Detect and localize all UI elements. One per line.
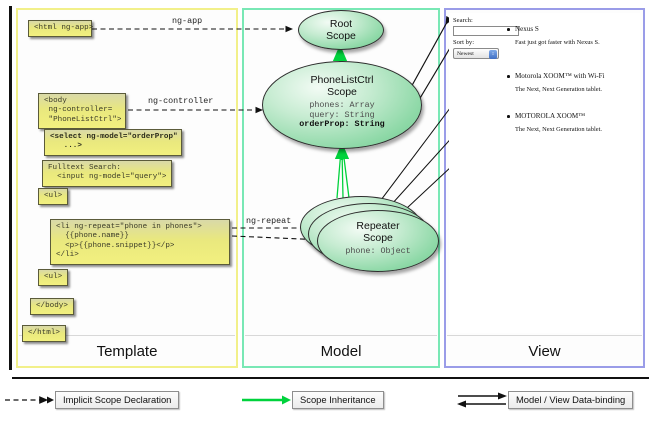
view-phone-snippet: The Next, Next Generation tablet. — [515, 86, 605, 93]
legend-data-binding-label: Model / View Data-binding — [508, 391, 633, 409]
view-phone-item[interactable]: Nexus S Fast just got faster with Nexus … — [515, 25, 600, 46]
scope-prop-orderprop: orderProp: String — [263, 120, 421, 130]
scope-repeater[interactable]: Repeater Scope phone: Object — [317, 210, 439, 272]
view-phone-name: MOTOROLA XOOM™ — [515, 112, 602, 120]
view-search-label: Search: — [453, 17, 473, 24]
dashed-arrow-icon — [3, 391, 55, 409]
template-box-body-close[interactable]: </body> — [30, 298, 74, 315]
scope-phonelistctrl-title-2: Scope — [263, 86, 421, 98]
edge-label-ng-repeat: ng-repeat — [246, 216, 291, 226]
bullet-icon — [507, 115, 510, 118]
legend-data-binding: Model / View Data-binding — [508, 390, 633, 409]
scope-prop-phone: phone: Object — [318, 247, 438, 257]
view-sort-label: Sort by: — [453, 39, 474, 46]
scope-phonelistctrl-title-1: PhoneListCtrl — [263, 74, 421, 86]
template-box-search-input[interactable]: Fulltext Search: <input ng-model="query"… — [42, 160, 172, 187]
edge-label-ng-controller: ng-controller — [148, 96, 213, 106]
diagram-canvas: Template Model View — [0, 0, 661, 425]
scope-root-title-2: Scope — [299, 30, 383, 42]
column-label-model: Model — [244, 343, 438, 360]
view-phone-snippet: Fast just got faster with Nexus S. — [515, 39, 600, 46]
scope-root-title-1: Root — [299, 18, 383, 30]
edge-label-ng-app: ng-app — [172, 16, 202, 26]
left-bracket — [9, 6, 12, 370]
view-phone-item[interactable]: Motorola XOOM™ with Wi-Fi The Next, Next… — [515, 72, 605, 93]
column-divider — [447, 335, 642, 336]
scope-phonelistctrl[interactable]: PhoneListCtrl Scope phones: Array query:… — [262, 61, 422, 149]
chevron-updown-icon[interactable]: ↕ — [489, 50, 497, 59]
legend-implicit-scope: Implicit Scope Declaration — [55, 390, 179, 409]
legend-scope-inheritance: Scope Inheritance — [292, 390, 384, 409]
template-box-body-tag[interactable]: <body ng-controller= "PhoneListCtrl"> — [38, 93, 126, 129]
view-sort-selected-value: Newest — [457, 51, 474, 57]
legend-scope-inheritance-label: Scope Inheritance — [292, 391, 384, 409]
green-arrow-icon — [240, 391, 292, 409]
bullet-icon — [507, 75, 510, 78]
view-app-preview: Search: Sort by: Newest ↕ Nexus S Fast j… — [449, 13, 640, 333]
template-box-html-close[interactable]: </html> — [22, 325, 66, 342]
column-label-template: Template — [18, 343, 236, 360]
template-box-html-tag[interactable]: <html ng-app> — [28, 20, 92, 37]
view-phone-snippet: The Next, Next Generation tablet. — [515, 126, 602, 133]
scope-repeater-title-1: Repeater — [318, 220, 438, 232]
view-phone-name: Motorola XOOM™ with Wi-Fi — [515, 72, 605, 80]
scope-root[interactable]: Root Scope — [298, 10, 384, 50]
view-sort-select[interactable]: Newest ↕ — [453, 48, 499, 59]
template-box-ul-open[interactable]: <ul> — [38, 188, 68, 205]
column-label-view: View — [446, 343, 643, 360]
bullet-icon — [507, 28, 510, 31]
template-box-li-repeat[interactable]: <li ng-repeat="phone in phones"> {{phone… — [50, 219, 230, 265]
double-head-arrow-icon — [456, 390, 508, 410]
view-phone-item[interactable]: MOTOROLA XOOM™ The Next, Next Generation… — [515, 112, 602, 133]
column-divider — [245, 335, 437, 336]
legend-separator — [12, 377, 649, 379]
view-phone-name: Nexus S — [515, 25, 600, 33]
scope-repeater-title-2: Scope — [318, 232, 438, 244]
template-box-select-tag[interactable]: <select ng-model="orderProp" ...> — [44, 129, 182, 156]
legend-implicit-scope-label: Implicit Scope Declaration — [55, 391, 179, 409]
scope-repeater-props: phone: Object — [318, 247, 438, 257]
scope-phonelistctrl-props: phones: Array query: String orderProp: S… — [263, 101, 421, 130]
template-box-ul-close[interactable]: <ul> — [38, 269, 68, 286]
